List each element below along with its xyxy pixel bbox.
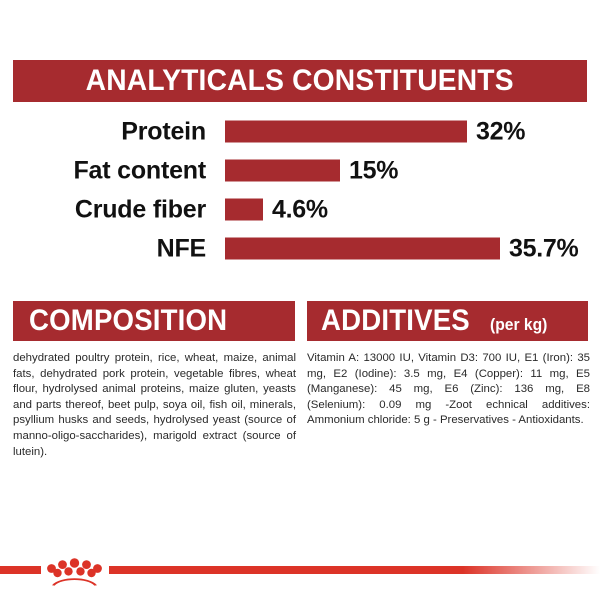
chart-value-crude-fiber: 4.6% [272, 195, 328, 224]
chart-track-crude-fiber: 4.6% [225, 195, 600, 224]
additives-body-text: Vitamin A: 13000 IU, Vitamin D3: 700 IU,… [307, 351, 590, 429]
footer-rule-left [0, 566, 41, 574]
chart-label-fat-content: Fat content [73, 156, 206, 185]
page-root: ANALYTICALS CONSTITUENTS Protein 32% Fat… [0, 0, 600, 600]
composition-header-band: COMPOSITION [13, 301, 295, 341]
analytics-bar-chart: Protein 32% Fat content 15% Crude fiber … [0, 112, 600, 268]
chart-label-protein: Protein [121, 117, 206, 146]
chart-value-protein: 32% [476, 117, 525, 146]
chart-bar-crude-fiber [225, 199, 263, 221]
chart-value-fat-content: 15% [349, 156, 398, 185]
analytics-header-band: ANALYTICALS CONSTITUENTS [13, 60, 587, 102]
additives-header-band: ADDITIVES (per kg) [307, 301, 588, 341]
footer-rule-right [109, 566, 600, 574]
chart-row-crude-fiber: Crude fiber 4.6% [0, 190, 600, 229]
additives-header-title: ADDITIVES [321, 306, 470, 336]
footer-logo-bar [0, 556, 600, 586]
chart-track-protein: 32% [225, 117, 600, 146]
chart-bar-protein [225, 121, 467, 143]
composition-header-title: COMPOSITION [29, 306, 227, 336]
chart-bar-fat-content [225, 160, 340, 182]
chart-bar-nfe [225, 238, 500, 260]
additives-header-subtitle: (per kg) [490, 316, 547, 333]
chart-track-fat-content: 15% [225, 156, 600, 185]
analytics-header-title: ANALYTICALS CONSTITUENTS [86, 66, 514, 96]
chart-label-nfe: NFE [157, 234, 206, 263]
royal-canin-crown-icon [44, 556, 106, 586]
chart-row-fat-content: Fat content 15% [0, 151, 600, 190]
chart-row-nfe: NFE 35.7% [0, 229, 600, 268]
chart-track-nfe: 35.7% [225, 234, 600, 263]
chart-label-crude-fiber: Crude fiber [75, 195, 206, 224]
chart-row-protein: Protein 32% [0, 112, 600, 151]
chart-value-nfe: 35.7% [509, 234, 578, 263]
composition-body-text: dehydrated poultry protein, rice, wheat,… [13, 351, 296, 460]
